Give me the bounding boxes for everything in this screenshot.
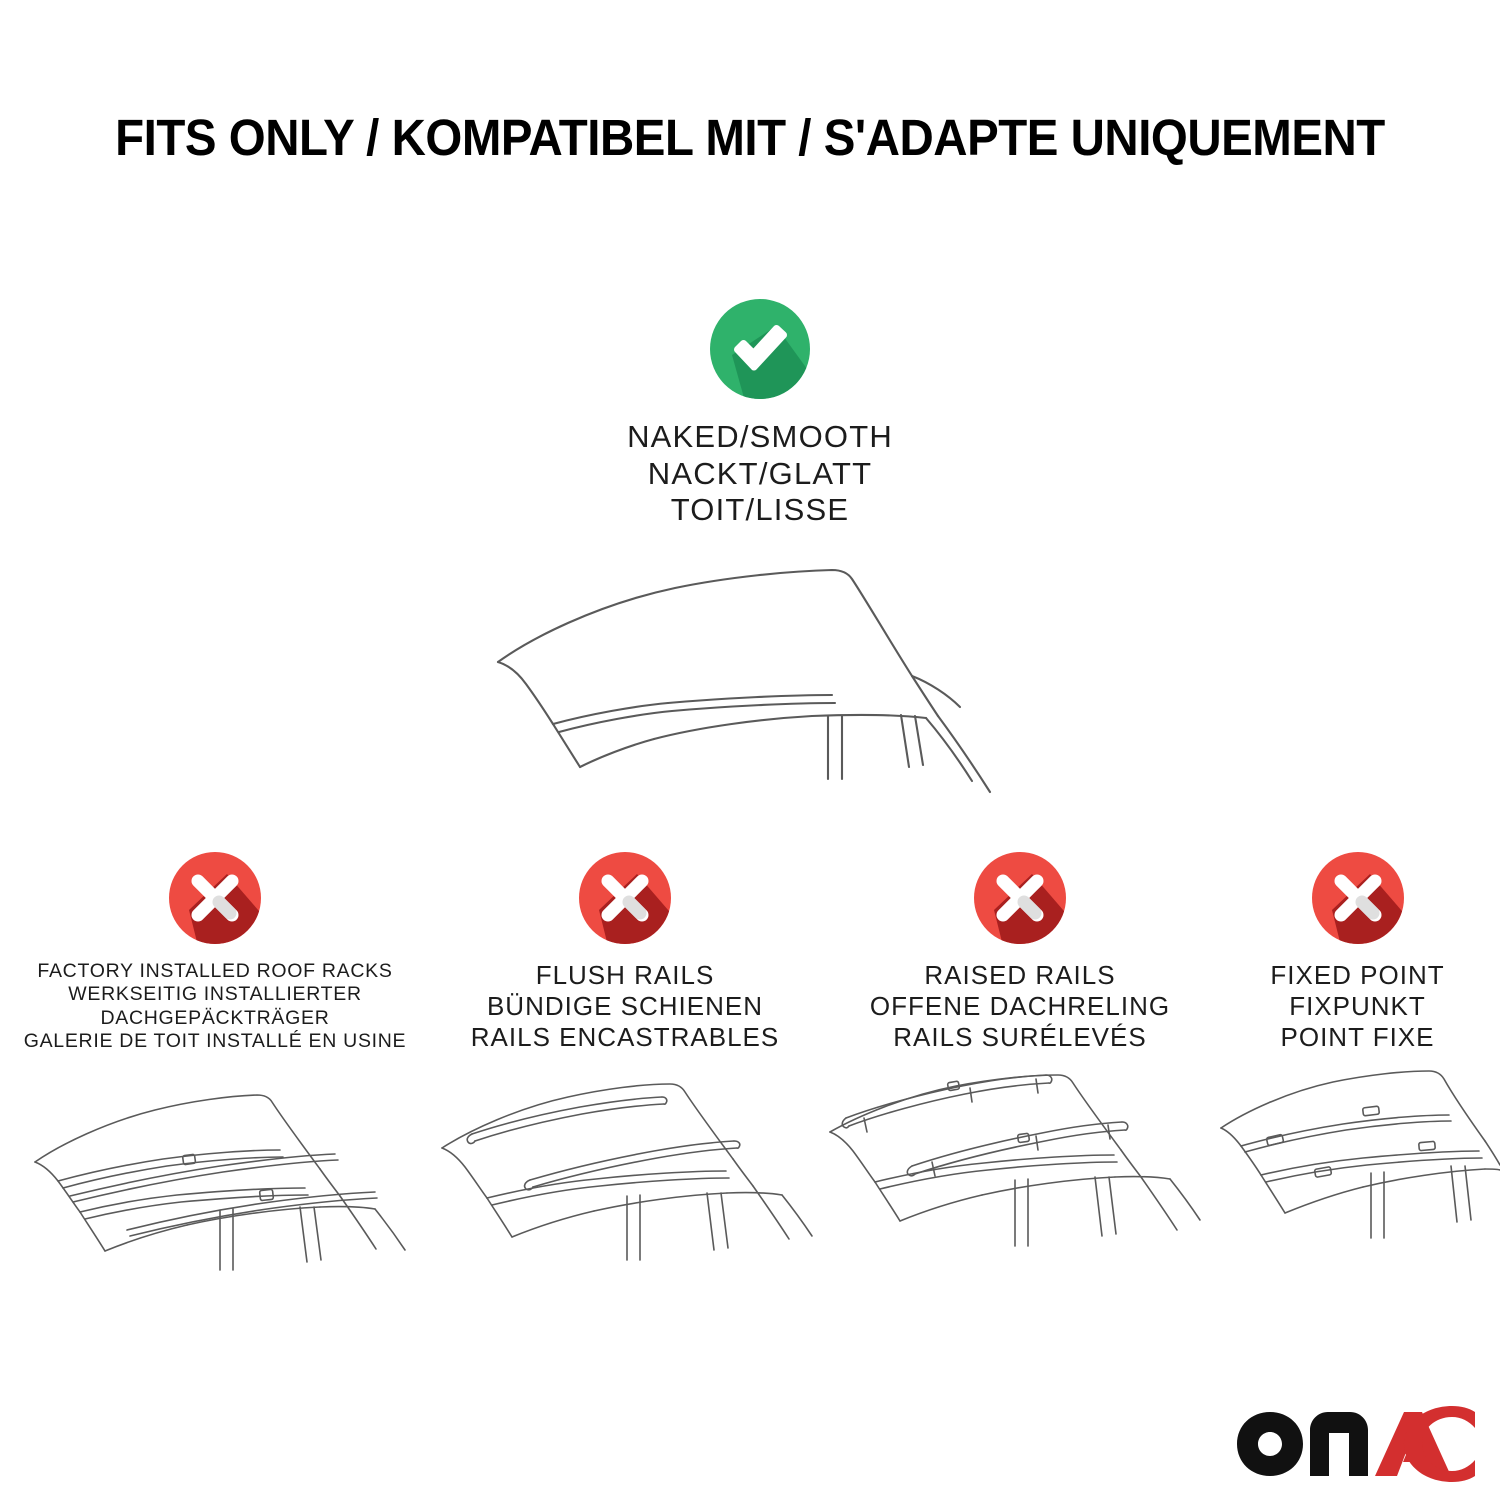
caption-line-1: FACTORY INSTALLED ROOF RACKS — [15, 960, 415, 983]
caption-line-4: GALERIE DE TOIT INSTALLÉ EN USINE — [15, 1030, 415, 1053]
caption-line-1: FLUSH RAILS — [430, 960, 820, 991]
omac-letter-o — [1237, 1412, 1303, 1476]
cross-circle-icon — [165, 848, 265, 948]
incompatible-panel-factory-racks: FACTORY INSTALLED ROOF RACKS WERKSEITIG … — [15, 848, 415, 1305]
caption-line-1: FIXED POINT — [1215, 960, 1500, 991]
caption-line-2: BÜNDIGE SCHIENEN — [430, 991, 820, 1022]
compatible-caption: NAKED/SMOOTH NACKT/GLATT TOIT/LISSE — [460, 419, 1060, 529]
caption-line-3: RAILS ENCASTRABLES — [430, 1022, 820, 1053]
fixed-point-illustration — [1215, 1070, 1500, 1305]
omac-letter-m — [1310, 1412, 1368, 1476]
caption-line-1: RAISED RAILS — [820, 960, 1220, 991]
caption-line-2: FIXPUNKT — [1215, 991, 1500, 1022]
check-circle-icon — [706, 295, 814, 403]
incompatible-caption-flush-rails: FLUSH RAILS BÜNDIGE SCHIENEN RAILS ENCAS… — [430, 960, 820, 1054]
caption-line-3: RAILS SURÉLEVÉS — [820, 1022, 1220, 1053]
caption-line-2: WERKSEITIG INSTALLIERTER — [15, 983, 415, 1006]
flush-rails-illustration — [430, 1070, 820, 1305]
compatible-roof-panel: NAKED/SMOOTH NACKT/GLATT TOIT/LISSE — [460, 295, 1060, 848]
incompatible-panel-raised-rails: RAISED RAILS OFFENE DACHRELING RAILS SUR… — [820, 848, 1220, 1305]
incompatible-caption-raised-rails: RAISED RAILS OFFENE DACHRELING RAILS SUR… — [820, 960, 1220, 1054]
incompatible-caption-fixed-point: FIXED POINT FIXPUNKT POINT FIXE — [1215, 960, 1500, 1054]
cross-circle-icon — [1308, 848, 1408, 948]
naked-smooth-roof-illustration — [460, 543, 1060, 848]
raised-rails-illustration — [820, 1070, 1220, 1305]
caption-line-2: OFFENE DACHRELING — [820, 991, 1220, 1022]
incompatible-panel-flush-rails: FLUSH RAILS BÜNDIGE SCHIENEN RAILS ENCAS… — [430, 848, 820, 1305]
compatible-line-1: NAKED/SMOOTH — [460, 419, 1060, 456]
caption-line-3: POINT FIXE — [1215, 1022, 1500, 1053]
factory-roof-rack-illustration — [15, 1070, 415, 1305]
caption-line-3: DACHGEPÄCKTRÄGER — [15, 1007, 415, 1030]
compatible-line-2: NACKT/GLATT — [460, 456, 1060, 493]
omac-logo — [1232, 1404, 1480, 1484]
cross-circle-icon — [575, 848, 675, 948]
incompatible-panel-fixed-point: FIXED POINT FIXPUNKT POINT FIXE — [1215, 848, 1500, 1305]
page-title: FITS ONLY / KOMPATIBEL MIT / S'ADAPTE UN… — [53, 108, 1448, 167]
incompatible-caption-factory-racks: FACTORY INSTALLED ROOF RACKS WERKSEITIG … — [15, 960, 415, 1054]
cross-circle-icon — [970, 848, 1070, 948]
compatible-line-3: TOIT/LISSE — [460, 492, 1060, 529]
